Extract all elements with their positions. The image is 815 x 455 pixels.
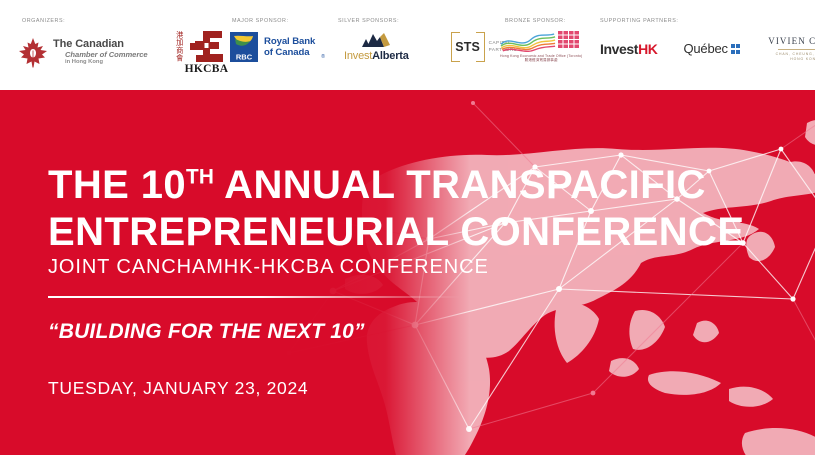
sponsor-group-label: MAJOR SPONSOR: — [232, 18, 289, 24]
event-date: TUESDAY, JANUARY 23, 2024 — [48, 378, 308, 399]
svg-text:RBC: RBC — [236, 53, 253, 62]
ccc-line-2: Chamber of Commerce — [53, 51, 148, 59]
sponsor-group-organizers: ORGANIZERS: — [22, 18, 65, 24]
invest-alberta-wordmark: InvestAlberta — [344, 50, 409, 62]
sponsor-group-label: ORGANIZERS: — [22, 18, 65, 24]
organizer-logos: The Canadian Chamber of Commerce in Hong… — [18, 30, 228, 75]
logo-invest-hk[interactable]: InvestHK — [600, 41, 657, 57]
supporting-partner-logos: InvestHK Québec VIVIEN CHAN & CO CHAN, C… — [600, 36, 815, 62]
vivien-chan-wordmark: VIVIEN CHAN & CO — [768, 36, 815, 46]
rbc-line-1: Royal Bank — [264, 36, 315, 47]
logo-vivien-chan-and-co[interactable]: VIVIEN CHAN & CO CHAN, CHEUNG, YEUNG, LA… — [768, 36, 815, 62]
rbc-shield-icon: RBC — [230, 32, 258, 62]
logo-hkcba[interactable]: 港加商會 HKCBA — [176, 30, 229, 75]
ccc-line-3: in Hong Kong — [53, 59, 148, 65]
hkcba-wordmark: HKCBA — [185, 63, 229, 75]
vivien-chan-divider — [778, 49, 815, 50]
hketo-ribbon-icon — [500, 30, 556, 52]
invest-alberta-word-bold: Alberta — [372, 50, 409, 62]
sponsor-strip: ORGANIZERS: The Canadian Chamber of Comm… — [0, 0, 815, 90]
rbc-wordmark: Royal Bank of Canada — [264, 36, 315, 59]
title-pre: THE 10 — [48, 163, 186, 207]
sponsor-group-label: BRONZE SPONSOR: — [505, 18, 566, 24]
hkcba-mark-icon — [188, 30, 225, 63]
title-line-2: ENTREPRENEURIAL CONFERENCE — [48, 210, 744, 254]
hkcba-chinese-name: 港加商會 — [176, 31, 184, 65]
rbc-line-2: of Canada — [264, 47, 315, 58]
vc-name-main: VIVIEN CHAN — [768, 36, 815, 46]
page-title: THE 10TH ANNUAL TRANSPACIFICENTREPRENEUR… — [48, 162, 748, 257]
hketo-hongkong-blocks-icon — [558, 31, 582, 51]
sponsor-group-label: SILVER SPONSORS: — [338, 18, 399, 24]
investhk-word-red: HK — [638, 41, 657, 57]
logo-quebec[interactable]: Québec — [683, 41, 740, 56]
sts-bracket-icon: STS — [451, 32, 485, 62]
logo-invest-alberta[interactable]: InvestAlberta — [344, 32, 409, 62]
bronze-sponsor-logos: Hong Kong Economic and Trade Office (Tor… — [500, 30, 582, 63]
ccc-wordmark: The Canadian Chamber of Commerce in Hong… — [53, 39, 148, 65]
sponsor-group-major: MAJOR SPONSOR: — [232, 18, 289, 24]
title-ordinal-suffix: TH — [186, 165, 214, 188]
sponsor-group-silver: SILVER SPONSORS: — [338, 18, 399, 24]
title-post: ANNUAL TRANSPACIFIC — [214, 163, 706, 207]
hketo-mark — [500, 30, 582, 52]
conference-subtitle: JOINT CANCHAMHK-HKCBA CONFERENCE — [48, 256, 489, 279]
hkcba-mark-and-word: HKCBA — [185, 30, 229, 75]
silver-sponsor-logos: InvestAlberta STS CAPITAL PARTNERS — [344, 32, 517, 62]
rbc-registered-mark: ® — [321, 54, 325, 60]
maple-leaf-icon — [18, 37, 48, 68]
invest-alberta-mark-icon — [360, 32, 392, 48]
logo-royal-bank-of-canada[interactable]: RBC Royal Bank of Canada ® — [230, 32, 325, 62]
hketo-subtext-chinese: 駙港經濟貿易辦事處 — [525, 58, 558, 63]
invest-alberta-word-thin: Invest — [344, 50, 372, 62]
logo-hketo[interactable]: Hong Kong Economic and Trade Office (Tor… — [500, 30, 582, 63]
major-sponsor-logos: RBC Royal Bank of Canada ® — [230, 32, 325, 62]
sponsor-group-bronze: BRONZE SPONSOR: — [505, 18, 566, 24]
quebec-wordmark: Québec — [683, 41, 727, 56]
conference-poster: ORGANIZERS: The Canadian Chamber of Comm… — [0, 0, 815, 455]
sponsor-group-supporting: SUPPORTING PARTNERS: — [600, 18, 678, 24]
conference-tagline: “BUILDING FOR THE NEXT 10” — [48, 320, 365, 344]
quebec-flag-icon — [731, 44, 740, 53]
sts-wordmark: STS — [454, 40, 481, 54]
sponsor-group-label: SUPPORTING PARTNERS: — [600, 18, 678, 24]
vivien-chan-sub-2: HONG KONG · BEIJING — [790, 57, 815, 62]
investhk-word-dark: Invest — [600, 41, 638, 57]
logo-canadian-chamber-of-commerce[interactable]: The Canadian Chamber of Commerce in Hong… — [18, 37, 148, 68]
title-divider — [48, 296, 460, 298]
